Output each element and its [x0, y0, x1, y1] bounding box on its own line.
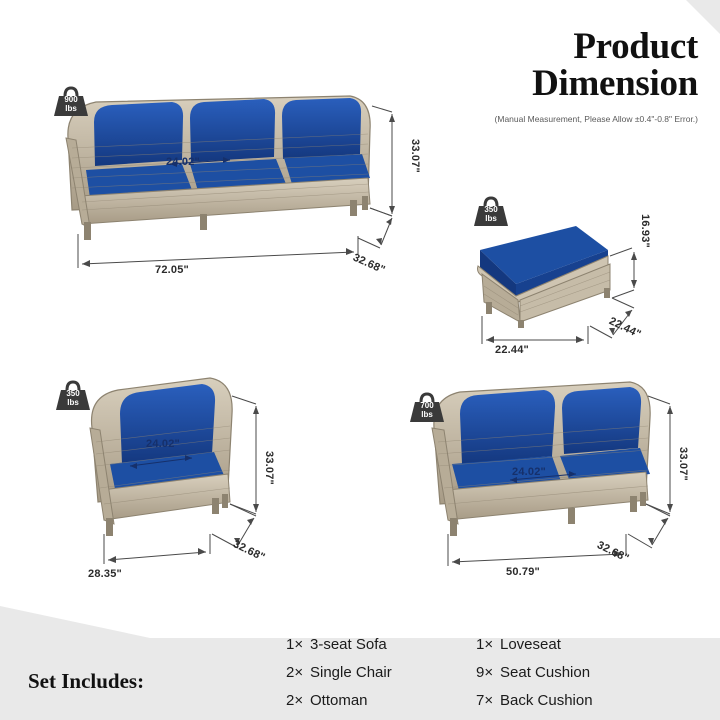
list-item-label: Ottoman — [310, 692, 368, 709]
chair-width-label: 28.35" — [88, 568, 122, 580]
page-title-line1: Product — [410, 26, 698, 67]
chair-seat-width-label: 24.02" — [146, 438, 180, 450]
list-item: 7×Back Cushion — [476, 692, 676, 709]
list-item: 2×Single Chair — [286, 664, 476, 681]
product-dimension-page: Product Dimension (Manual Measurement, P… — [0, 0, 720, 720]
list-item: 9×Seat Cushion — [476, 664, 676, 681]
list-item: 1×Loveseat — [476, 636, 676, 653]
header: Product Dimension (Manual Measurement, P… — [410, 0, 720, 125]
list-item-label: 3-seat Sofa — [310, 636, 387, 653]
sofa-height-label: 33.07" — [409, 139, 421, 173]
sofa-width-label: 72.05" — [155, 264, 189, 276]
list-item-qty: 2× — [286, 692, 310, 709]
band-corner-decoration — [0, 606, 150, 638]
measurement-note: (Manual Measurement, Please Allow ±0.4"-… — [410, 114, 698, 125]
loveseat-width-label: 50.79" — [506, 566, 540, 578]
list-item-label: Loveseat — [500, 636, 561, 653]
list-item-qty: 9× — [476, 664, 500, 681]
ottoman-height-label: 16.93" — [639, 214, 651, 248]
sofa-seat-width-label: 24.02" — [166, 156, 200, 168]
list-item-qty: 2× — [286, 664, 310, 681]
page-title-line2: Dimension — [410, 63, 698, 104]
loveseat-height-label: 33.07" — [677, 447, 689, 481]
loveseat-seat-width-label: 24.02" — [512, 466, 546, 478]
chair-height-label: 33.07" — [263, 451, 275, 485]
list-item: 1×3-seat Sofa — [286, 636, 476, 653]
ottoman-width-label: 22.44" — [495, 344, 529, 356]
list-item-label: Back Cushion — [500, 692, 593, 709]
set-includes-list: 1×3-seat Sofa 1×Loveseat 2×Single Chair … — [286, 630, 706, 714]
list-item-label: Single Chair — [310, 664, 392, 681]
set-includes-title: Set Includes: — [28, 669, 144, 694]
list-item: 2×Ottoman — [286, 692, 476, 709]
list-item-qty: 1× — [476, 636, 500, 653]
list-item-qty: 7× — [476, 692, 500, 709]
list-item-label: Seat Cushion — [500, 664, 590, 681]
list-item-qty: 1× — [286, 636, 310, 653]
